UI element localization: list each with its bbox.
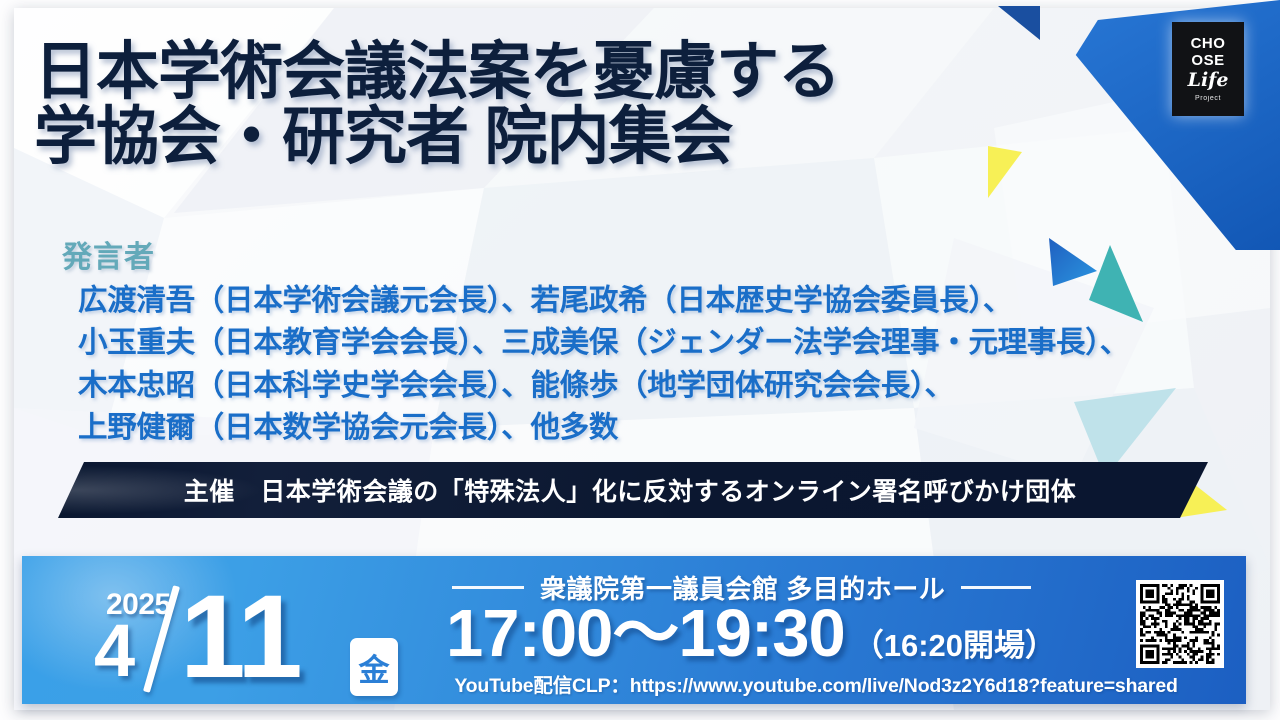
date-day-of-week-badge: 金 (350, 638, 398, 696)
time-note: （16:20開場） (853, 620, 1056, 665)
title-line-2: 学協会・研究者 院内集会 (34, 105, 1044, 170)
poster-title: 日本学術会議法案を憂慮する 学協会・研究者 院内集会 (34, 40, 1044, 170)
organizer-text: 主催 日本学術会議の「特殊法人」化に反対するオンライン署名呼びかけ団体 (58, 462, 1208, 518)
info-band: 2025 4 11 金 衆議院第一議員会館 多目的ホール 17:00〜19:30… (22, 556, 1246, 704)
poster-root: CHO OSE Life Project 日本学術会議法案を憂慮する 学協会・研… (0, 0, 1280, 720)
speakers-row: 上野健爾（日本数学協会元会長）、他多数 (78, 407, 1188, 449)
venue-rule-left-icon (452, 586, 524, 589)
speakers-row: 木本忠昭（日本科学史学会会長）、能條歩（地学団体研究会会長）、 (78, 365, 1188, 407)
venue-rule-right-icon (961, 586, 1031, 589)
time-row: 17:00〜19:30 （16:20開場） (446, 600, 1166, 672)
organizer-band: 主催 日本学術会議の「特殊法人」化に反対するオンライン署名呼びかけ団体 (58, 462, 1208, 518)
speakers-row: 小玉重夫（日本教育学会会長）、三成美保（ジェンダー法学会理事・元理事長）、 (78, 322, 1188, 364)
blue-triangle-icon (1049, 238, 1097, 286)
date-month: 4 (94, 614, 135, 688)
stream-url[interactable]: YouTube配信CLP：https://www.youtube.com/liv… (436, 669, 1196, 698)
speakers-label: 発言者 (62, 232, 155, 276)
qr-code[interactable] (1136, 580, 1224, 668)
speakers-list: 広渡清吾（日本学術会議元会長）、若尾政希（日本歴史学協会委員長）、 小玉重夫（日… (78, 280, 1188, 450)
time-main: 17:00〜19:30 (446, 600, 845, 667)
event-date: 2025 4 11 金 (60, 566, 490, 696)
title-line-1: 日本学術会議法案を憂慮する (34, 40, 1044, 105)
date-day: 11 (180, 578, 301, 696)
speakers-row: 広渡清吾（日本学術会議元会長）、若尾政希（日本歴史学協会委員長）、 (78, 280, 1188, 322)
